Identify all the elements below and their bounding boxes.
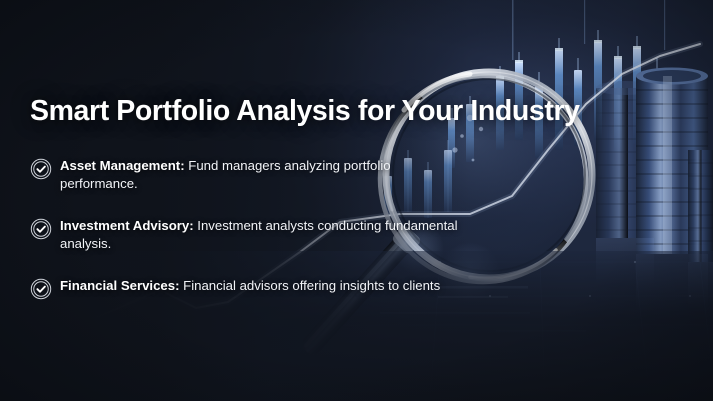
list-item: Investment Advisory: Investment analysts… xyxy=(30,217,460,254)
page-title: Smart Portfolio Analysis for Your Indust… xyxy=(30,96,460,128)
list-item-text: Investment Advisory: Investment analysts… xyxy=(60,217,460,254)
list-item-label: Investment Advisory: xyxy=(60,218,194,233)
benefits-list: Asset Management: Fund managers analyzin… xyxy=(30,157,460,300)
list-item-text: Financial Services: Financial advisors o… xyxy=(60,277,440,295)
list-item: Financial Services: Financial advisors o… xyxy=(30,277,460,300)
list-item-text: Asset Management: Fund managers analyzin… xyxy=(60,157,460,194)
slide-content: Smart Portfolio Analysis for Your Indust… xyxy=(30,96,460,300)
check-circle-icon xyxy=(30,218,52,240)
check-circle-icon xyxy=(30,278,52,300)
list-item-description: Financial advisors offering insights to … xyxy=(179,278,440,293)
list-item-label: Financial Services: xyxy=(60,278,179,293)
list-item: Asset Management: Fund managers analyzin… xyxy=(30,157,460,194)
slide-canvas: Smart Portfolio Analysis for Your Indust… xyxy=(0,0,713,401)
list-item-label: Asset Management: xyxy=(60,158,185,173)
check-circle-icon xyxy=(30,158,52,180)
